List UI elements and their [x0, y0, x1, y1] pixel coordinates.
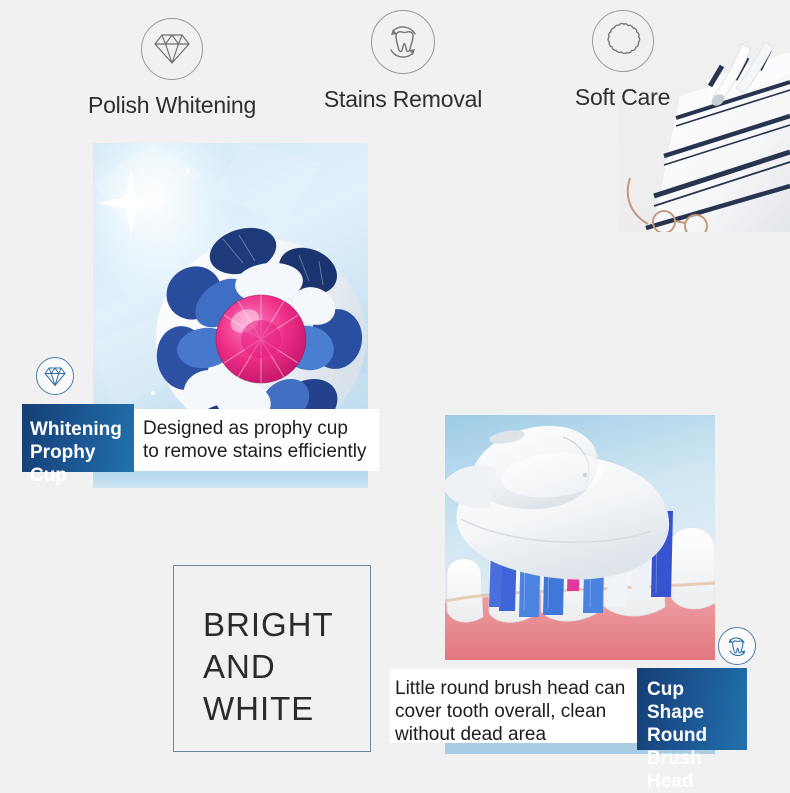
slogan-text: BRIGHT AND WHITE [203, 604, 334, 730]
caption-line: cover tooth overall, clean [395, 700, 632, 723]
diamond-badge-icon [36, 357, 74, 395]
bright-and-white-box: BRIGHT AND WHITE [173, 565, 371, 752]
feature-stains-removal: Stains Removal [288, 10, 518, 113]
tag-line: Prophy Cup [30, 441, 128, 487]
slogan-line: AND [203, 646, 334, 688]
tag-line: Cup Shape [647, 678, 741, 724]
feature-polish-whitening: Polish Whitening [57, 18, 287, 119]
caption-line: without dead area [395, 723, 632, 746]
tooth-refresh-badge-icon [718, 627, 756, 665]
prophy-cup-caption: Designed as prophy cup to remove stains … [134, 409, 379, 471]
cup-shape-round-brush-head-tag: Cup Shape Round Brush Head [637, 668, 747, 750]
caption-line: to remove stains efficiently [143, 440, 373, 463]
round-brush-head-caption: Little round brush head can cover tooth … [390, 669, 638, 743]
feature-label: Polish Whitening [57, 92, 287, 119]
caption-line: Little round brush head can [395, 677, 632, 700]
slogan-line: BRIGHT [203, 604, 334, 646]
whitening-prophy-cup-tag: Whitening Prophy Cup [22, 404, 134, 472]
feature-label: Soft Care [510, 84, 735, 111]
tag-line: Whitening [30, 418, 128, 441]
feature-icon-row: Polish Whitening Stains Removal [0, 0, 790, 140]
feature-soft-care: Soft Care [510, 10, 735, 111]
product-feature-page: Polish Whitening Stains Removal [0, 0, 790, 790]
scalloped-cup-icon [592, 10, 654, 72]
tag-line: Round Brush [647, 724, 741, 770]
round-brush-head-photo [445, 415, 715, 660]
caption-line: Designed as prophy cup [143, 417, 373, 440]
diamond-icon [141, 18, 203, 80]
slogan-line: WHITE [203, 688, 334, 730]
feature-label: Stains Removal [288, 86, 518, 113]
tooth-refresh-icon [371, 10, 435, 74]
